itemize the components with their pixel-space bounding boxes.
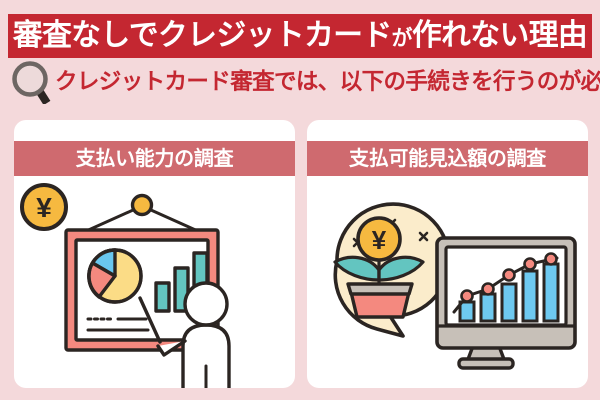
card-header-left: 支払い能力の調査 [14,141,295,176]
subtitle-text: クレジットカード審査では、以下の手続きを行うのが必須 [55,71,600,94]
title-segment-particle: が [392,27,412,50]
card-header-right: 支払可能見込額の調査 [307,141,588,176]
title-bar: 審査なしでクレジットカードが作れない理由 [8,14,592,58]
card-expected-payable-amount: 支払可能見込額の調査 [307,120,588,388]
illustration-presentation-board: ¥ [14,176,295,388]
card-heading-left: 支払い能力の調査 [76,149,234,169]
title-segment-katakana: クレジットカード [158,19,392,52]
flower-pot [348,284,412,317]
yen-coin-flower: ¥ [358,218,400,260]
page-title: 審査なしでクレジットカードが作れない理由 [13,21,587,51]
subtitle-row: クレジットカード審査では、以下の手続きを行うのが必須 [10,60,592,104]
svg-text:¥: ¥ [372,225,387,255]
title-segment-1: 審査なしで [13,19,158,52]
card-payment-ability: 支払い能力の調査 [14,120,295,388]
desktop-monitor [437,238,575,368]
magnifier-icon [10,60,56,104]
infographic-root: 審査なしでクレジットカードが作れない理由 クレジットカード審査では、以下の手続き… [0,0,600,400]
card-heading-right: 支払可能見込額の調査 [349,149,546,169]
title-segment-2: 作れない理由 [412,19,587,52]
svg-text:¥: ¥ [36,192,52,223]
yen-coin-icon: ¥ [22,185,66,229]
illustration-money-plant-monitor: ¥ [307,176,588,388]
